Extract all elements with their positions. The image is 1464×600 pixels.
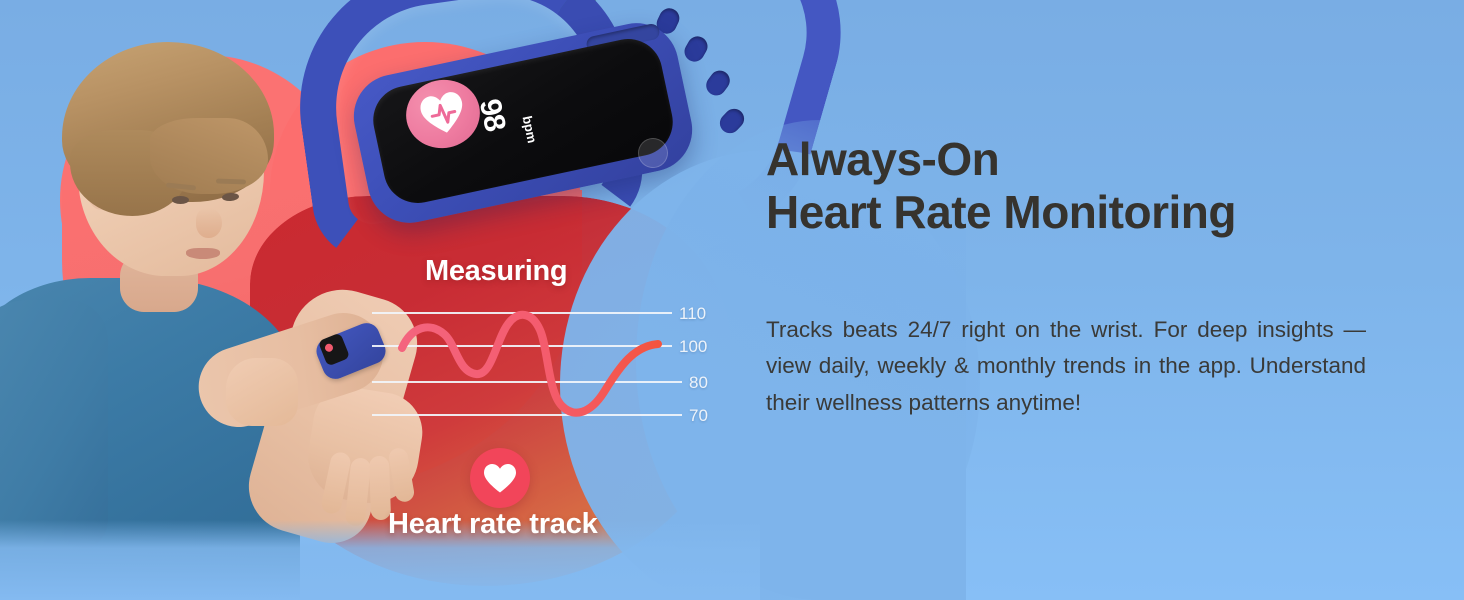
page-title: Always-On Heart Rate Monitoring <box>766 133 1386 240</box>
child-sleeve <box>0 300 108 550</box>
child-eyebrow-right <box>216 178 246 184</box>
chart-tick-100: 100 <box>679 337 707 357</box>
heart-icon <box>470 448 530 508</box>
chart-tick-110: 110 <box>679 304 706 324</box>
child-right-fist <box>226 358 298 426</box>
measuring-label: Measuring <box>425 255 567 288</box>
chart-line <box>402 315 658 413</box>
headline-line-2: Heart Rate Monitoring <box>766 186 1386 239</box>
copy-block: Always-On Heart Rate Monitoring <box>766 133 1386 240</box>
child-mouth <box>186 248 220 259</box>
background-blue-bottom-fade <box>0 520 760 600</box>
heart-rate-track-label: Heart rate track <box>388 508 598 541</box>
body-paragraph: Tracks beats 24/7 right on the wrist. Fo… <box>766 312 1366 421</box>
heart-rate-chart: 110 100 80 70 <box>372 296 732 436</box>
child-eye-left <box>172 196 189 204</box>
chart-tick-80: 80 <box>689 373 708 393</box>
product-banner: 98 bpm 110 100 80 70 <box>0 0 1464 600</box>
headline-line-1: Always-On <box>766 133 999 185</box>
child-nose <box>196 208 222 238</box>
chart-tick-70: 70 <box>689 406 708 426</box>
